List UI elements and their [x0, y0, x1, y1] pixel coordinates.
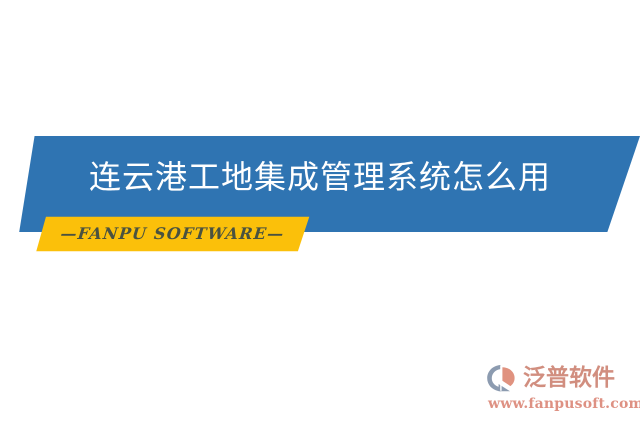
fanpu-arc-logo-icon [486, 363, 520, 393]
banner-subtitle: —FANPU SOFTWARE— [29, 220, 317, 248]
brand-logo-row: 泛普软件 [486, 362, 615, 394]
banner-page: 连云港工地集成管理系统怎么用 —FANPU SOFTWARE— 泛普软件 www… [0, 0, 640, 427]
page-title: 连云港工地集成管理系统怎么用 [0, 155, 640, 199]
brand-name: 泛普软件 [523, 363, 615, 393]
brand-url: www.fanpusoft.com [488, 394, 640, 414]
brand-logo: 泛普软件 www.fanpusoft.com [486, 362, 634, 420]
